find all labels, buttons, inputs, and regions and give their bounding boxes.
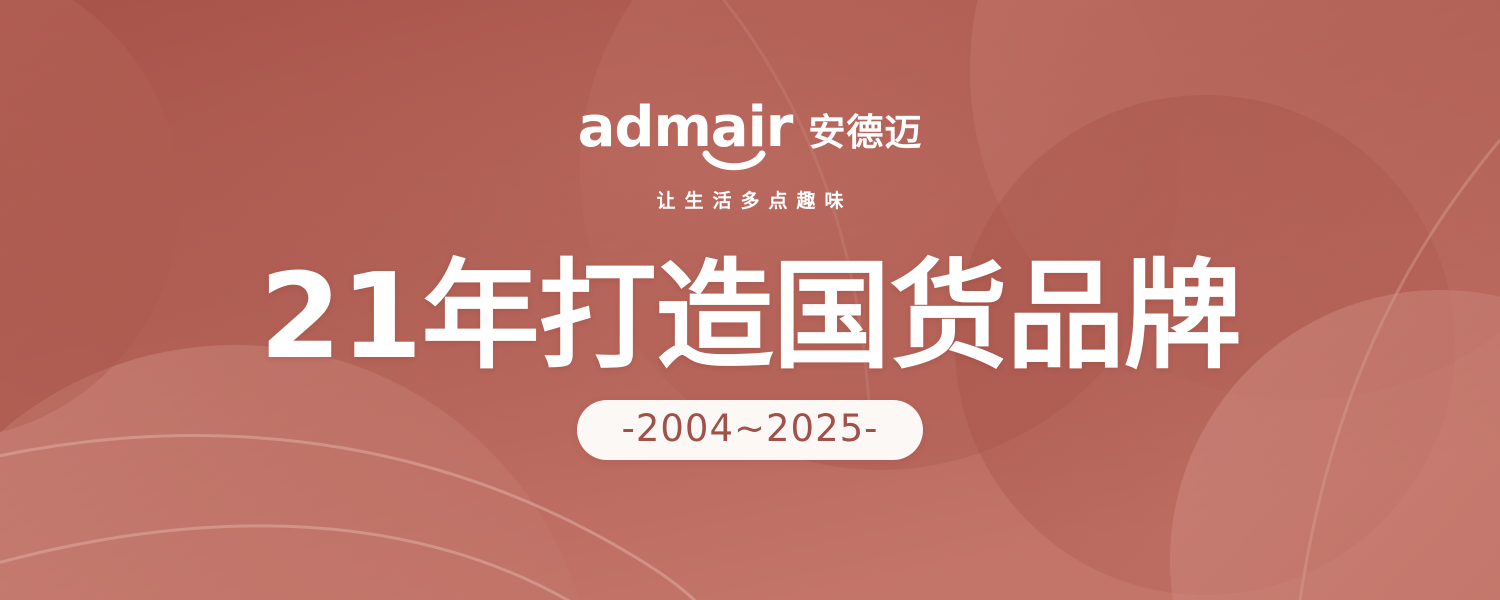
logo-row: admair 安德迈 xyxy=(578,100,923,156)
date-range-badge: -2004~2025- xyxy=(577,400,922,460)
headline-text: 21年打造国货品牌 xyxy=(259,253,1240,380)
brand-tagline: 让生活多点趣味 xyxy=(647,192,852,211)
brand-chinese-name: 安德迈 xyxy=(808,114,922,156)
promo-banner: admair 安德迈 让生活多点趣味 21年打造国货品牌 -2004~2025- xyxy=(0,0,1500,600)
brand-wordmark: admair xyxy=(578,100,793,156)
smile-arc-icon xyxy=(703,151,765,173)
banner-content: admair 安德迈 让生活多点趣味 21年打造国货品牌 -2004~2025- xyxy=(0,0,1500,600)
wordmark-wrap: admair xyxy=(578,100,793,156)
brand-logo-lockup: admair 安德迈 让生活多点趣味 xyxy=(578,100,923,211)
